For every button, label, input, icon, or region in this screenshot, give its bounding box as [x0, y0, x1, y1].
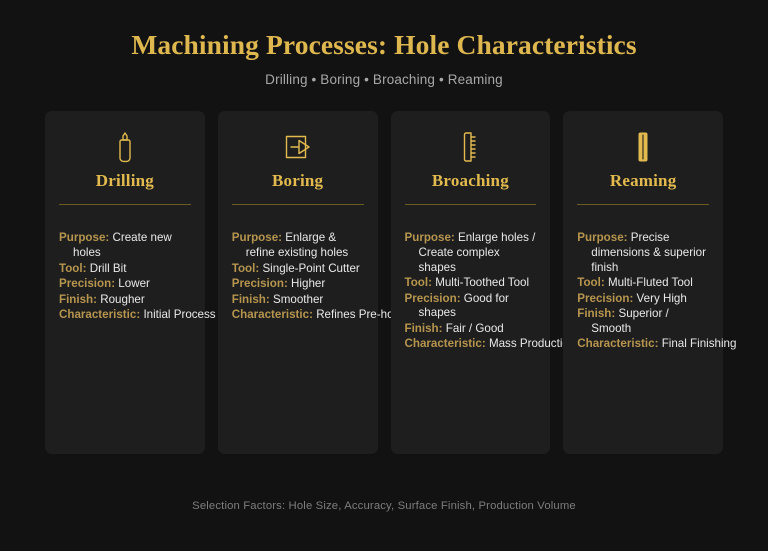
spec-tool: Tool: Single-Point Cutter — [232, 262, 364, 277]
process-card-drilling[interactable]: Drilling Purpose: Create new holes Tool:… — [45, 111, 205, 454]
spec-label-tool: Tool: — [577, 276, 604, 289]
spec-finish: Finish: Superior / Smooth — [577, 307, 709, 336]
spec-value-tool: Drill Bit — [90, 262, 127, 275]
spec-value-precision: Higher — [291, 277, 325, 290]
spec-value-finish: Rougher — [100, 293, 144, 306]
spec-label-purpose: Purpose: — [232, 231, 282, 244]
spec-precision: Precision: Lower — [59, 277, 191, 292]
reamer-fluted-icon — [636, 130, 650, 164]
page-footer: Selection Factors: Hole Size, Accuracy, … — [0, 500, 768, 551]
spec-value-finish: Fair / Good — [446, 322, 504, 335]
card-divider — [59, 204, 191, 205]
spec-tool: Tool: Drill Bit — [59, 262, 191, 277]
process-card-broaching[interactable]: Broaching Purpose: Enlarge holes / Creat… — [391, 111, 551, 454]
spec-purpose: Purpose: Precise dimensions & superior f… — [577, 231, 709, 275]
spec-characteristic: Characteristic: Mass Production — [405, 337, 537, 352]
spec-label-purpose: Purpose: — [405, 231, 455, 244]
drill-bit-icon — [117, 130, 133, 164]
spec-label-precision: Precision: — [59, 277, 115, 290]
spec-value-tool: Multi-Fluted Tool — [608, 276, 693, 289]
page-subtitle: Drilling • Boring • Broaching • Reaming — [0, 71, 768, 89]
spec-precision: Precision: Very High — [577, 292, 709, 307]
spec-characteristic: Characteristic: Refines Pre-hole — [232, 308, 364, 323]
card-title-drilling: Drilling — [96, 171, 154, 191]
broach-toothed-tool-icon — [461, 130, 479, 164]
spec-purpose: Purpose: Create new holes — [59, 231, 191, 260]
spec-label-characteristic: Characteristic: — [59, 308, 140, 321]
card-divider — [405, 204, 537, 205]
card-divider — [232, 204, 364, 205]
spec-finish: Finish: Smoother — [232, 293, 364, 308]
process-cards-row: Drilling Purpose: Create new holes Tool:… — [0, 111, 768, 454]
process-card-reaming[interactable]: Reaming Purpose: Precise dimensions & su… — [563, 111, 723, 454]
card-title-boring: Boring — [272, 171, 323, 191]
spec-purpose: Purpose: Enlarge & refine existing holes — [232, 231, 364, 260]
infographic-page: Machining Processes: Hole Characteristic… — [0, 0, 768, 551]
card-divider — [577, 204, 709, 205]
process-card-boring[interactable]: Boring Purpose: Enlarge & refine existin… — [218, 111, 378, 454]
spec-list-reaming: Purpose: Precise dimensions & superior f… — [577, 231, 709, 353]
spec-label-precision: Precision: — [577, 292, 633, 305]
spec-label-characteristic: Characteristic: — [405, 337, 486, 350]
spec-label-purpose: Purpose: — [577, 231, 627, 244]
spec-label-tool: Tool: — [405, 276, 432, 289]
spec-characteristic: Characteristic: Final Finishing — [577, 337, 709, 352]
spec-list-drilling: Purpose: Create new holes Tool: Drill Bi… — [59, 231, 191, 324]
spec-label-finish: Finish: — [577, 307, 615, 320]
spec-label-precision: Precision: — [232, 277, 288, 290]
spec-list-boring: Purpose: Enlarge & refine existing holes… — [232, 231, 364, 324]
spec-purpose: Purpose: Enlarge holes / Create complex … — [405, 231, 537, 275]
spec-value-tool: Multi-Toothed Tool — [435, 276, 529, 289]
spec-precision: Precision: Good for shapes — [405, 292, 537, 321]
spec-value-finish: Smoother — [273, 293, 323, 306]
spec-value-characteristic: Final Finishing — [662, 337, 737, 350]
spec-label-finish: Finish: — [59, 293, 97, 306]
selection-factors-text: Selection Factors: Hole Size, Accuracy, … — [0, 500, 768, 512]
card-title-reaming: Reaming — [610, 171, 677, 191]
page-header: Machining Processes: Hole Characteristic… — [0, 0, 768, 89]
spec-value-tool: Single-Point Cutter — [262, 262, 359, 275]
spec-label-finish: Finish: — [405, 322, 443, 335]
spec-value-precision: Very High — [637, 292, 687, 305]
spec-value-characteristic: Initial Process — [143, 308, 215, 321]
spec-label-purpose: Purpose: — [59, 231, 109, 244]
spec-tool: Tool: Multi-Toothed Tool — [405, 276, 537, 291]
spec-label-finish: Finish: — [232, 293, 270, 306]
spec-label-precision: Precision: — [405, 292, 461, 305]
spec-value-characteristic: Refines Pre-hole — [316, 308, 402, 321]
spec-finish: Finish: Rougher — [59, 293, 191, 308]
spec-label-characteristic: Characteristic: — [577, 337, 658, 350]
spec-finish: Finish: Fair / Good — [405, 322, 537, 337]
spec-label-characteristic: Characteristic: — [232, 308, 313, 321]
spec-label-tool: Tool: — [232, 262, 259, 275]
spec-tool: Tool: Multi-Fluted Tool — [577, 276, 709, 291]
page-title: Machining Processes: Hole Characteristic… — [0, 28, 768, 62]
boring-bar-icon — [283, 130, 313, 164]
spec-precision: Precision: Higher — [232, 277, 364, 292]
spec-list-broaching: Purpose: Enlarge holes / Create complex … — [405, 231, 537, 353]
spec-characteristic: Characteristic: Initial Process — [59, 308, 191, 323]
card-title-broaching: Broaching — [432, 171, 509, 191]
spec-label-tool: Tool: — [59, 262, 86, 275]
spec-value-precision: Lower — [118, 277, 150, 290]
